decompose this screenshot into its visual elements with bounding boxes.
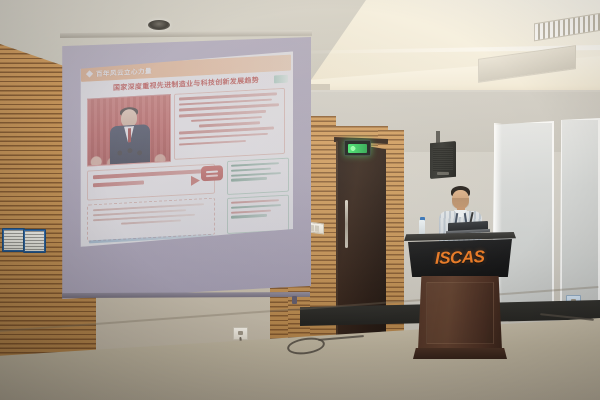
photo-microphones — [114, 144, 146, 164]
speaker-badge — [437, 172, 449, 175]
wall-notice-sign — [23, 229, 46, 253]
slide-text-block — [174, 88, 285, 160]
projection-screen[interactable]: 百年风云立心力量 国家深度重视先进制造业与科技创新发展趋势 — [61, 37, 311, 299]
exit-sign-icon — [344, 140, 371, 156]
speech-bubble-icon — [201, 165, 223, 181]
podium-logo: ISCAS — [435, 247, 484, 269]
podium-front-inset — [426, 282, 494, 344]
conference-room-photo: 百年风云立心力量 国家深度重视先进制造业与科技创新发展趋势 — [0, 0, 600, 400]
door-handle[interactable] — [345, 200, 348, 248]
exit-running-man-glyph — [348, 144, 367, 153]
slide-side-note — [227, 195, 289, 234]
slide-corner-logo — [274, 75, 288, 84]
photo-figure-tie — [128, 128, 132, 142]
slide-side-list — [227, 158, 289, 195]
projected-slide: 百年风云立心力量 国家深度重视先进制造业与科技创新发展趋势 — [79, 51, 293, 247]
speaker-bracket — [436, 131, 440, 143]
slide-band-text: 百年风云立心力量 — [96, 65, 152, 78]
podium: ISCAS — [404, 232, 516, 360]
diamond-bullet-icon — [86, 70, 93, 77]
podium-front-panel: ISCAS — [408, 239, 512, 277]
arrow-icon — [191, 175, 200, 185]
downlight-icon — [148, 20, 170, 30]
wall-notice-sign — [2, 228, 25, 252]
podium-base — [413, 348, 507, 359]
screen-hook — [292, 296, 297, 304]
slide-photo — [87, 94, 171, 167]
speaker-grille — [433, 147, 453, 171]
window-with-blind — [560, 118, 600, 314]
